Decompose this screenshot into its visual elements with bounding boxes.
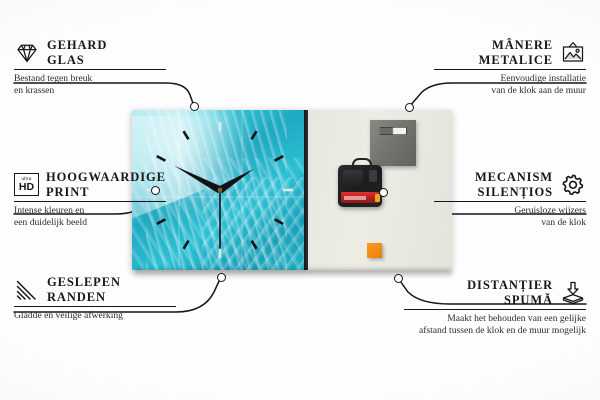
clock-tick [275,219,284,224]
infographic-canvas: GEHARD GLAS Bestand tegen breuk en krass… [0,0,600,400]
feature-divider [434,69,586,70]
clock-center-pin [218,188,223,193]
feature-title: DISTANȚIER SPUMĂ [467,278,553,307]
gear-icon [560,172,586,198]
ultra-hd-icon: ultra HD [14,173,39,196]
clock-hands [174,166,254,248]
callout-dot-foam-spacer [394,274,403,283]
feature-subtitle: Bestand tegen breuk en krassen [14,73,166,96]
feature-silent-mechanism: MECANISM SILENȚIOS Geruisloze wijzers va… [434,170,586,228]
feature-title: MÂNERE METALICE [479,38,553,67]
feature-title: HOOGWAARDIGE PRINT [46,170,166,199]
framed-picture-icon [560,40,586,66]
feature-foam-spacer: DISTANȚIER SPUMĂ Maakt het behouden van … [404,278,586,336]
clock-hour-hand [218,169,254,193]
clock-tick [184,241,189,249]
feature-tempered-glass: GEHARD GLAS Bestand tegen breuk en krass… [14,38,166,96]
callout-dot-metal-handles [405,103,414,112]
feature-divider [404,309,586,310]
feature-divider [14,201,166,202]
clock-tick [275,156,284,161]
foam-spacer-icon [560,280,586,306]
callout-dot-tempered-glass [190,102,199,111]
mechanism-dial [343,170,363,186]
mechanism-hanging-loop [352,158,372,169]
feature-metal-handles: MÂNERE METALICE Eenvoudige installatie v… [434,38,586,96]
hanger-slot [379,127,407,135]
clock-tick [252,131,257,139]
product-image [132,110,452,278]
battery-label [344,196,366,200]
feature-high-quality-print: ultra HD HOOGWAARDIGE PRINT Intense kleu… [14,170,166,228]
bevelled-edge-icon [14,277,40,303]
feature-subtitle: Eenvoudige installatie van de klok aan d… [434,73,586,96]
ultra-hd-icon-large-label: HD [19,182,34,193]
clock-tick [252,241,257,249]
feature-divider [14,306,176,307]
feature-title: GESLEPEN RANDEN [47,275,121,304]
feature-divider [14,69,166,70]
callout-dot-ground-edges [217,273,226,282]
clock-tick [184,131,189,139]
callout-dot-silent-mechanism [379,188,388,197]
foam-spacer-pad [367,243,382,258]
product-drop-shadow [134,269,452,278]
feature-subtitle: Intense kleuren en een duidelijk beeld [14,205,166,228]
mechanism-knob [369,170,377,182]
clock-minute-hand [174,166,222,194]
feature-title: GEHARD GLAS [47,38,107,67]
feature-subtitle: Maakt het behouden van een gelijke afsta… [404,313,586,336]
feature-divider [434,201,586,202]
feature-subtitle: Geruisloze wijzers van de klok [434,205,586,228]
diamond-icon [14,40,40,66]
clock-tick [157,156,166,161]
feature-ground-edges: GESLEPEN RANDEN Gladde en veilige afwerk… [14,275,176,322]
feature-subtitle: Gladde en veilige afwerking [14,310,176,322]
metal-hanger-plate [370,120,416,166]
aa-battery [341,192,379,203]
clock-mechanism-box [338,165,382,207]
feature-title: MECANISM SILENȚIOS [475,170,553,199]
